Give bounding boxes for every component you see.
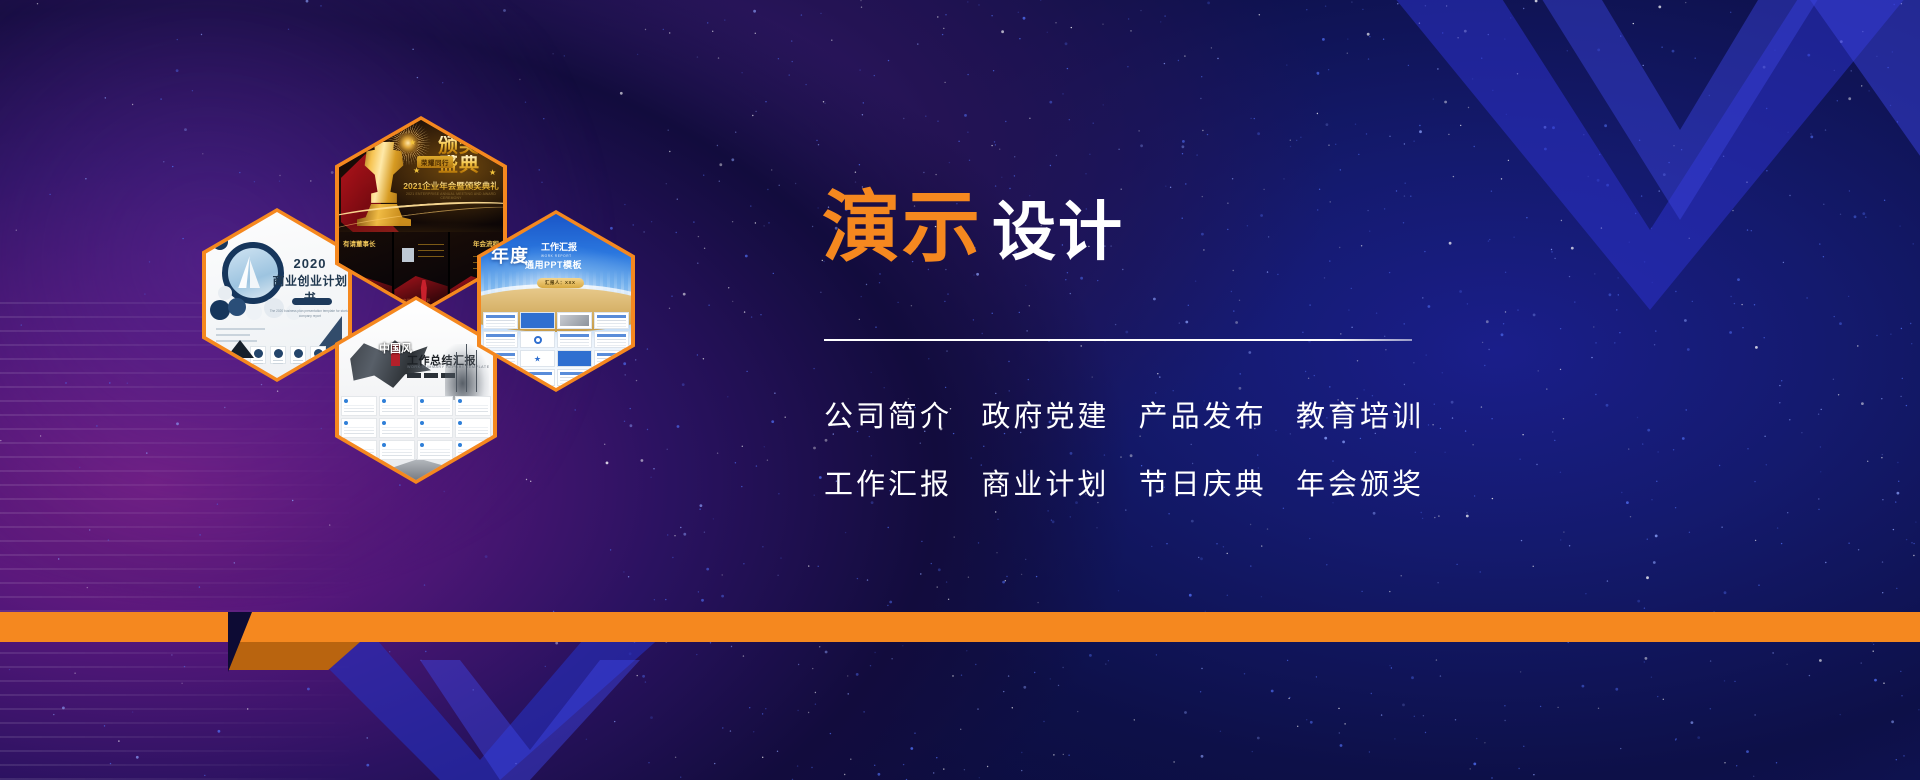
sail-shape-2 <box>250 260 260 288</box>
category-row-1: 公司简介 政府党建 产品发布 教育培训 <box>824 393 1424 435</box>
promo-banner: 2020 商业创业计划书 The 2020 business plan pres… <box>0 0 1920 780</box>
annual-year-label: 年度 <box>491 242 529 268</box>
star-icon: ★ <box>413 166 420 175</box>
bottom-bar-left-segment <box>0 612 228 642</box>
award-headline-line1: 颁奖 <box>413 136 503 156</box>
award-chip: 荣耀同行 <box>417 156 453 168</box>
star-icon: ★ <box>409 138 416 147</box>
annual-slide-thumbnails: ★ <box>483 312 629 386</box>
cell-title: 有请董事长 <box>343 238 376 248</box>
mountain-decoration <box>226 340 254 358</box>
decor-dot <box>212 234 228 250</box>
decor-dot <box>228 298 246 316</box>
category-item[interactable]: 工作汇报 <box>824 461 952 503</box>
page-title-primary: 演示 <box>822 188 982 266</box>
star-icon: ★ <box>489 168 496 177</box>
title-divider <box>824 339 1412 341</box>
template-thumbnail-cluster: 2020 商业创业计划书 The 2020 business plan pres… <box>180 100 660 500</box>
category-item[interactable]: 节日庆典 <box>1139 461 1267 503</box>
category-item[interactable]: 产品发布 <box>1139 393 1267 435</box>
category-list: 公司简介 政府党建 产品发布 教育培训 工作汇报 商业计划 节日庆典 年会颁奖 <box>824 393 1424 529</box>
chinese-slide-thumbnails <box>341 396 491 478</box>
bottom-bar <box>228 612 1920 642</box>
thumbnail-title-block: 2020 商业创业计划书 The 2020 business plan pres… <box>268 256 348 319</box>
annual-template-label: 通用PPT模板 <box>525 258 582 271</box>
award-hero-area: HONOR 颁奖 盛典 荣耀同行 ★ ★ ★ ★ 2021企业年会暨颁奖典礼 2… <box>339 120 503 238</box>
portrait-placeholder <box>402 248 414 262</box>
decor-dot <box>246 304 262 320</box>
chevron-decoration-corner <box>1740 0 1920 180</box>
decor-dot <box>218 286 232 300</box>
annual-presenter-button: 汇报人：XXX <box>537 278 584 288</box>
award-subtitle: 2021企业年会暨颁奖典礼 <box>395 180 503 192</box>
category-item[interactable]: 商业计划 <box>981 461 1109 503</box>
star-icon: ★ <box>491 136 498 145</box>
page-title: 演示 设计 <box>822 188 1124 266</box>
honor-label: HONOR <box>466 134 497 141</box>
page-title-secondary: 设计 <box>992 200 1124 264</box>
category-row-2: 工作汇报 商业计划 节日庆典 年会颁奖 <box>824 461 1424 503</box>
thumbnail-pill <box>292 298 332 305</box>
lotus-graphic <box>445 344 489 400</box>
thumbnail-hex-business-plan[interactable]: 2020 商业创业计划书 The 2020 business plan pres… <box>202 208 352 382</box>
category-item[interactable]: 政府党建 <box>981 393 1109 435</box>
thumbnail-mini-cards <box>250 346 326 364</box>
thumbnail-hex-chinese-style-report[interactable]: 中国风 工作总结汇报 WORK SUMMARY REPORT TEMPLATE <box>335 296 497 484</box>
category-item[interactable]: 教育培训 <box>1296 393 1424 435</box>
category-item[interactable]: 年会颁奖 <box>1296 461 1424 503</box>
category-item[interactable]: 公司简介 <box>824 393 952 435</box>
annual-work-report-label: 工作汇报 WORK REPORT <box>541 240 577 258</box>
award-slide-cell: 年度优秀员工表彰 <box>394 232 447 310</box>
decor-dot <box>210 300 230 320</box>
